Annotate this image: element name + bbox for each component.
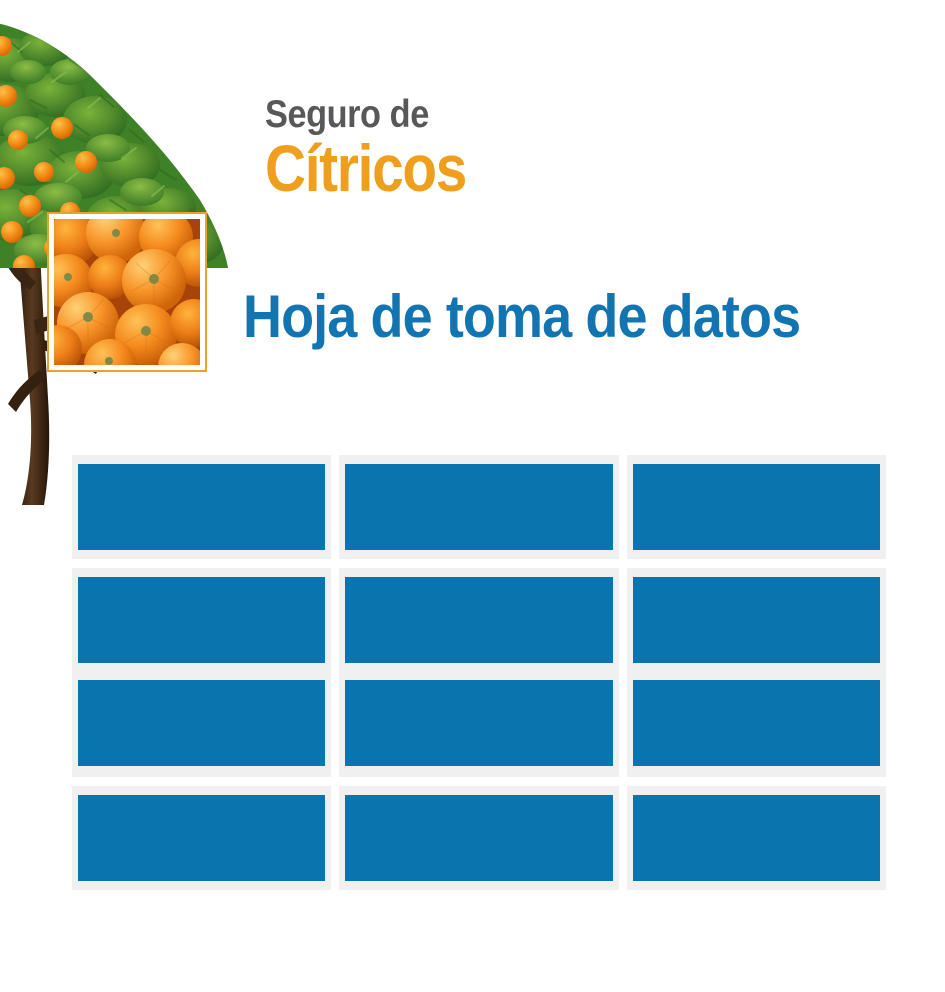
field-1[interactable] xyxy=(78,464,325,550)
field-7[interactable] xyxy=(78,680,325,766)
form-field-grid xyxy=(72,455,886,908)
oranges-photo xyxy=(47,212,207,372)
field-5[interactable] xyxy=(345,577,613,663)
page-root: Seguro de Cítricos Hoja de toma de datos xyxy=(0,0,945,992)
field-6[interactable] xyxy=(633,577,880,663)
card-left-3 xyxy=(72,786,331,890)
field-4[interactable] xyxy=(78,577,325,663)
card-right-1 xyxy=(627,455,886,559)
card-center-3 xyxy=(339,786,619,890)
page-subtitle: Hoja de toma de datos xyxy=(243,287,800,347)
page-title: Seguro de Cítricos xyxy=(265,96,499,200)
card-center-1 xyxy=(339,455,619,559)
column-right xyxy=(627,455,886,890)
field-10[interactable] xyxy=(78,795,325,881)
title-main: Cítricos xyxy=(265,137,466,200)
title-pretext: Seguro de xyxy=(265,96,471,133)
card-right-2 xyxy=(627,568,886,777)
column-left xyxy=(72,455,331,890)
field-3[interactable] xyxy=(633,464,880,550)
field-8[interactable] xyxy=(345,680,613,766)
field-12[interactable] xyxy=(633,795,880,881)
card-center-2 xyxy=(339,568,619,777)
field-2[interactable] xyxy=(345,464,613,550)
column-center xyxy=(339,455,619,890)
field-9[interactable] xyxy=(633,680,880,766)
card-left-1 xyxy=(72,455,331,559)
card-left-2 xyxy=(72,568,331,777)
field-11[interactable] xyxy=(345,795,613,881)
card-right-3 xyxy=(627,786,886,890)
